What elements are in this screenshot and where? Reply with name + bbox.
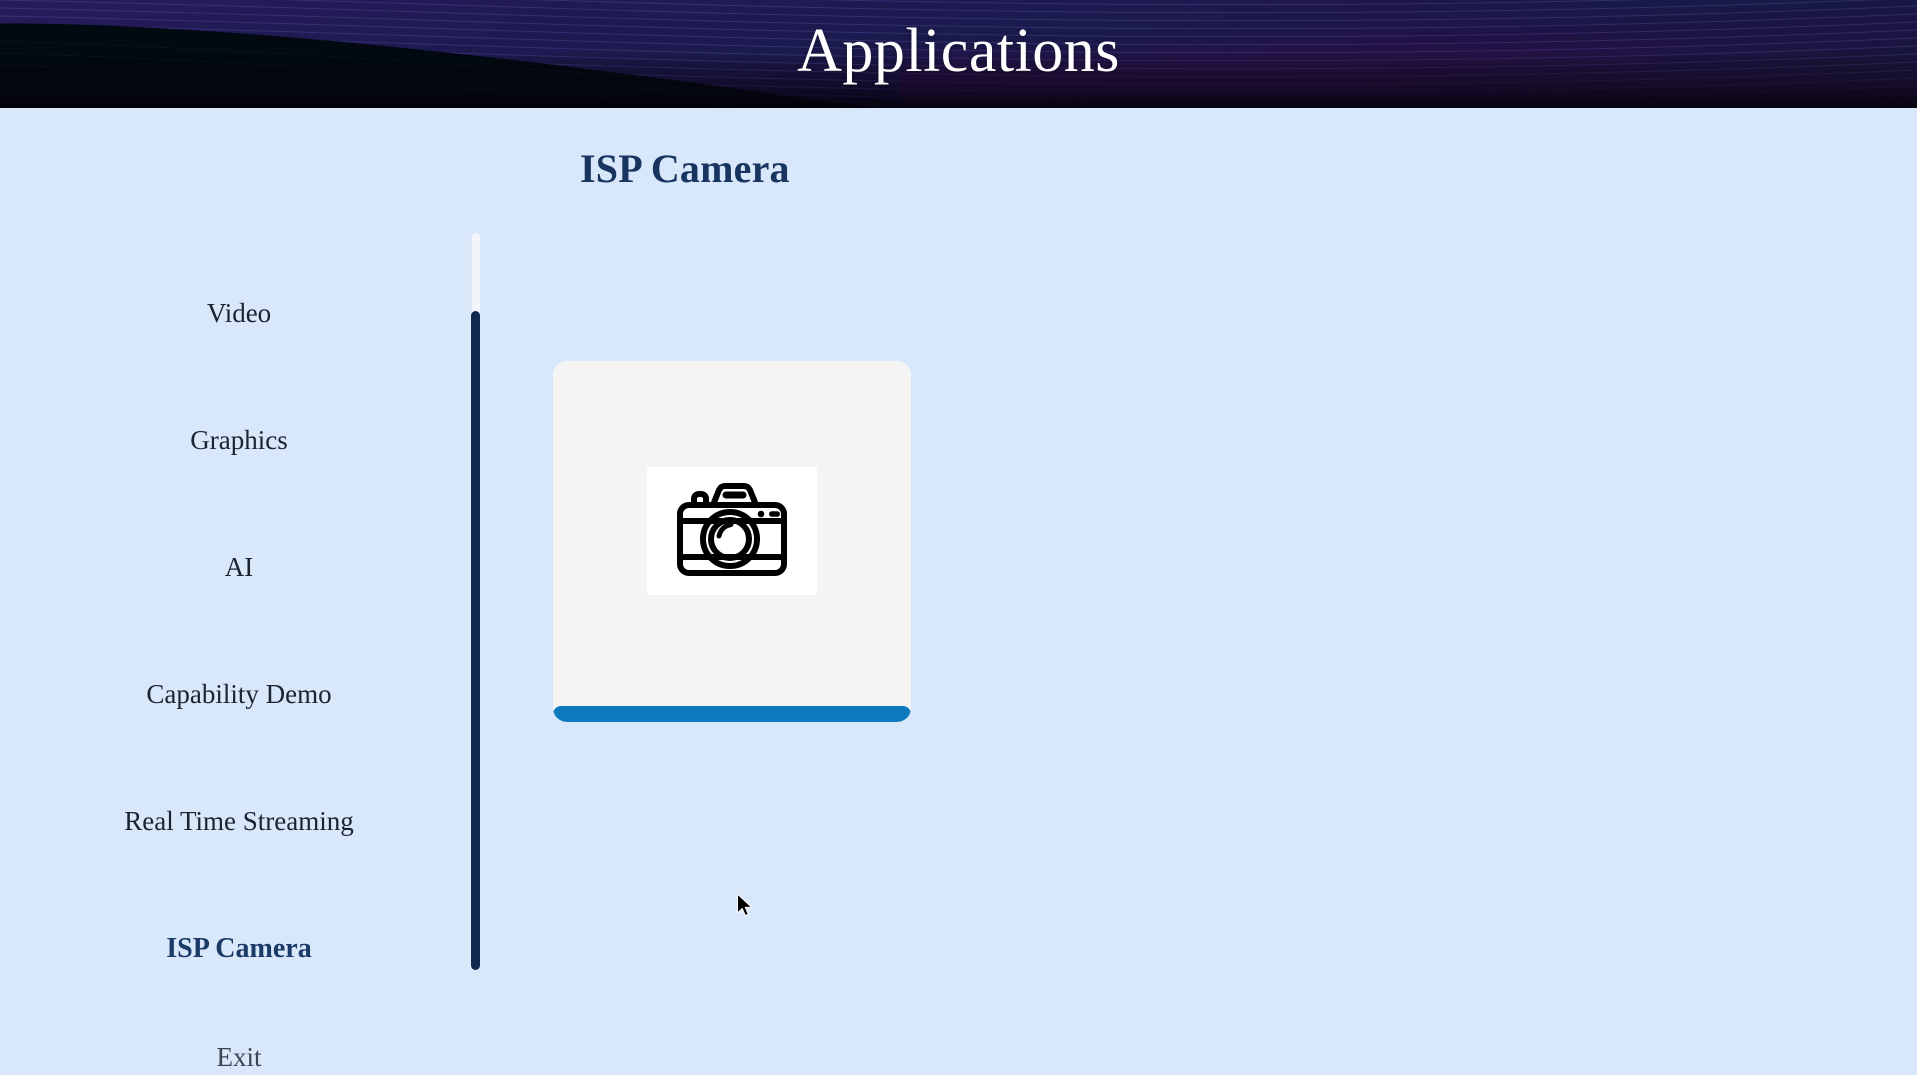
sidebar-item-video[interactable]: Video [0, 250, 478, 377]
camera-icon [667, 479, 797, 583]
sidebar-scrollbar-thumb[interactable] [471, 311, 480, 970]
app-card-isp-camera[interactable] [553, 361, 911, 722]
page-title: ISP Camera [580, 145, 790, 192]
sidebar-item-exit[interactable]: Exit [0, 1012, 478, 1075]
sidebar-item-capability-demo[interactable]: Capability Demo [0, 631, 478, 758]
sidebar-nav: Video Graphics AI Capability Demo Real T… [0, 250, 478, 1075]
sidebar-item-label: Video [207, 300, 271, 327]
camera-indicator-dot [758, 510, 765, 517]
sidebar-item-real-time-streaming[interactable]: Real Time Streaming [0, 758, 478, 885]
sidebar-item-label: Capability Demo [146, 681, 331, 708]
sidebar-item-label: Graphics [190, 427, 287, 454]
page-header-title: Applications [0, 0, 1917, 108]
mouse-cursor [736, 893, 754, 919]
sidebar-item-label: Exit [217, 1044, 262, 1071]
app-card-accent-bar [553, 706, 911, 722]
sidebar-item-ai[interactable]: AI [0, 504, 478, 631]
sidebar-item-label: Real Time Streaming [124, 808, 354, 835]
camera-indicator-dash [769, 511, 780, 517]
sidebar-item-graphics[interactable]: Graphics [0, 377, 478, 504]
sidebar-item-isp-camera[interactable]: ISP Camera [0, 885, 478, 1012]
app-icon-plate [647, 467, 817, 595]
app-header: Applications [0, 0, 1917, 108]
app-card-body [553, 361, 911, 706]
sidebar-item-label: ISP Camera [166, 935, 311, 963]
sidebar-item-label: AI [225, 554, 254, 581]
